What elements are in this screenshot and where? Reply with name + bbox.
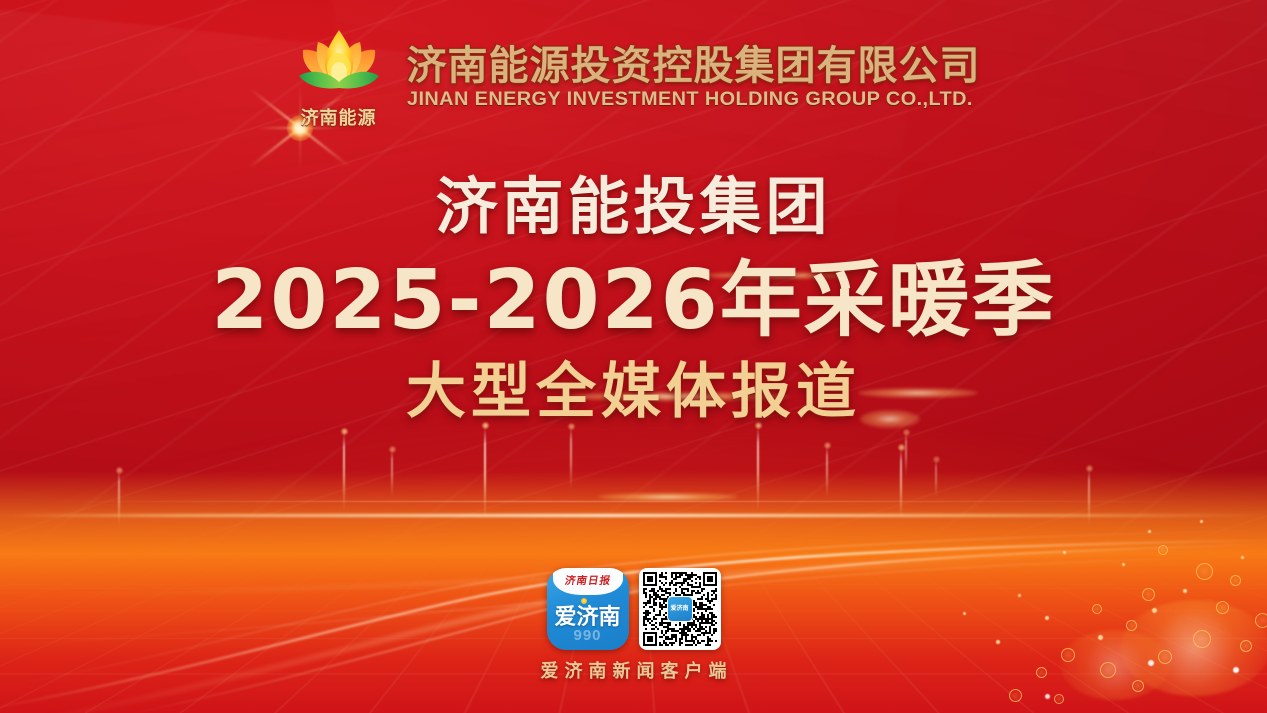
title-glint [598, 493, 738, 501]
company-name-en: JINAN ENERGY INVESTMENT HOLDING GROUP CO… [407, 90, 992, 110]
logo-caption: 济南能源 [287, 104, 391, 130]
bokeh-circle [1158, 650, 1172, 664]
bokeh-circle [1009, 689, 1022, 702]
bokeh-circle [1126, 620, 1137, 631]
light-shaft [1088, 468, 1090, 528]
sparkle-dot [1098, 635, 1103, 640]
company-name-cn: 济南能源投资控股集团有限公司 [407, 45, 981, 87]
bokeh-circle [1061, 648, 1075, 662]
light-shaft [570, 426, 572, 492]
bokeh-circle [1240, 640, 1252, 652]
brand-header: 济南能源 济南能源投资控股集团有限公司 JINAN ENERGY INVESTM… [0, 24, 1267, 128]
qr-code[interactable]: 爱济南 [639, 568, 721, 650]
sparkle-dot [1148, 660, 1154, 666]
bokeh-circle [1132, 680, 1144, 692]
sparkle-dot [1045, 616, 1049, 620]
sparkle-dot [1122, 563, 1125, 566]
background-horizon-line [0, 514, 1267, 517]
aijinan-app-icon[interactable]: 济南日报 爱济南 990 [547, 568, 629, 650]
sparkle-dot [1045, 694, 1050, 699]
poster-canvas: 济南能源 济南能源投资控股集团有限公司 JINAN ENERGY INVESTM… [0, 0, 1267, 713]
light-shaft [935, 459, 937, 499]
sparkle-dot [1148, 530, 1151, 533]
app-promo-caption: 爱济南新闻客户端 [535, 657, 733, 683]
app-promo-row: 济南日报 爱济南 990 爱济南 [547, 568, 721, 650]
light-shaft [391, 449, 393, 499]
bokeh-circle [1100, 662, 1116, 678]
app-icon-top-label: 济南日报 [547, 573, 629, 588]
qr-center-label: 爱济南 [670, 606, 688, 612]
title-line-1: 济南能投集团 [0, 176, 1267, 238]
brand-text-block: 济南能源投资控股集团有限公司 JINAN ENERGY INVESTMENT H… [407, 43, 981, 110]
sparkle-dot [1241, 556, 1244, 559]
app-promo-badge: 济南日报 爱济南 990 爱济南 爱济南新闻客户端 [535, 568, 733, 683]
light-shaft [900, 447, 902, 521]
bokeh-circle [1142, 588, 1155, 601]
bokeh-circle [1193, 630, 1211, 648]
title-line-3: 大型全媒体报道 [0, 362, 1267, 422]
bokeh-circle [1092, 604, 1102, 614]
sparkle-dot [1018, 594, 1021, 597]
main-title-block: 济南能投集团 2025-2026年采暖季 大型全媒体报道 [0, 176, 1267, 422]
light-shaft [484, 425, 486, 521]
sparkle-dot [1183, 589, 1187, 593]
light-shaft [118, 470, 120, 528]
bokeh-circle [1216, 601, 1229, 614]
bokeh-circle [1036, 667, 1047, 678]
bokeh-circle [1158, 545, 1168, 555]
sparkle-dot [1233, 667, 1239, 673]
ember-glow [1060, 630, 1170, 700]
light-shaft [343, 431, 345, 513]
light-shaft [905, 432, 907, 478]
bokeh-circle [1054, 694, 1064, 704]
sparkle-dot [1063, 551, 1066, 554]
bokeh-circle [1196, 563, 1213, 580]
light-shaft [757, 425, 759, 513]
bokeh-circle [1230, 575, 1241, 586]
bokeh-circle [1255, 613, 1267, 628]
logo-mark: 济南能源 [287, 24, 391, 128]
sparkle-dot [963, 612, 966, 615]
sparkle-dot [1200, 520, 1203, 523]
sparkle-dot [996, 640, 1000, 644]
lotus-flame-logo-icon [287, 24, 391, 104]
light-shaft [826, 445, 828, 499]
title-line-2: 2025-2026年采暖季 [0, 260, 1267, 342]
background-horizon-line-secondary [51, 501, 1217, 502]
sparkle-dot [1152, 608, 1157, 613]
app-icon-swirl: 990 [547, 627, 629, 644]
qr-center-logo: 爱济南 [667, 596, 693, 622]
